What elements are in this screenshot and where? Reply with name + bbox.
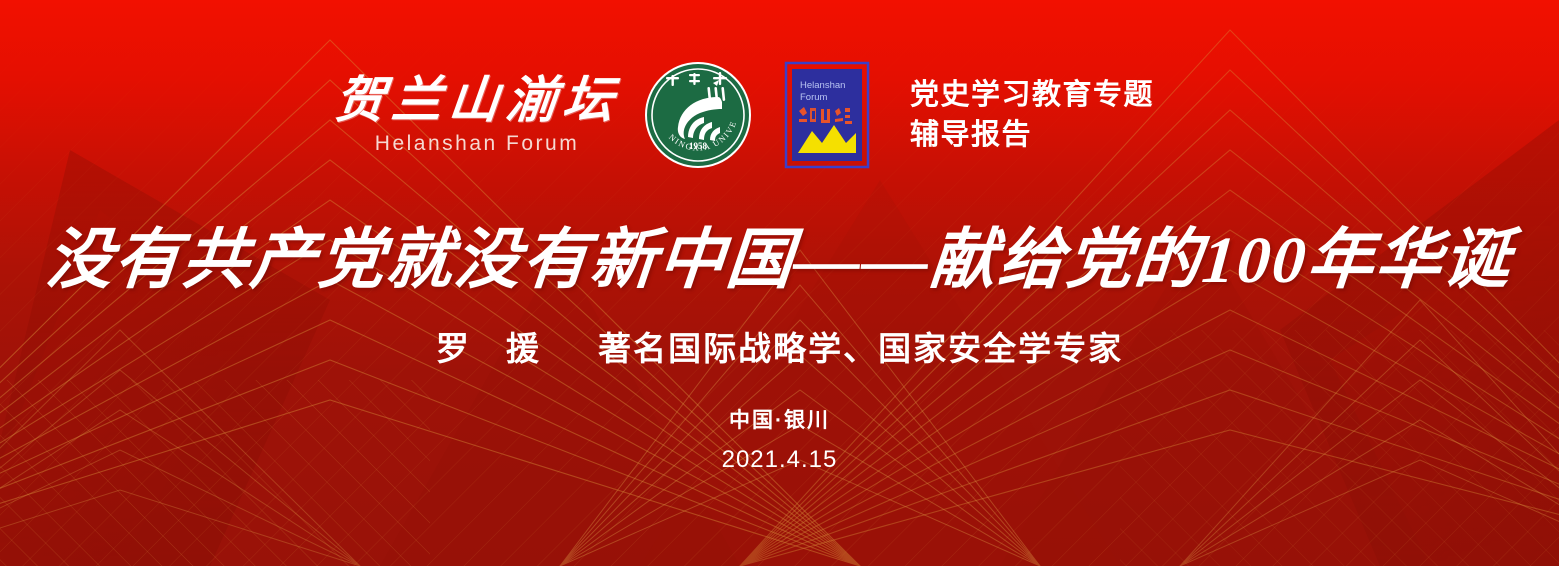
topic-heading: 党史学习教育专题 辅导报告 (910, 75, 1154, 155)
topic-line-2: 辅导报告 (910, 115, 1154, 155)
event-banner: 贺兰山湔坛 Helanshan Forum (0, 0, 1559, 566)
banner-footer: 中国·银川 2021.4.15 (0, 408, 1559, 474)
helanshan-forum-logo: 贺兰山湔坛 Helanshan Forum (332, 74, 622, 157)
svg-text:Forum: Forum (800, 92, 828, 103)
page-title: 没有共产党就没有新中国——献给党的100年华诞 (0, 206, 1559, 302)
ningxia-university-seal-icon: 1958 NINGXIA UNIVERSITY (644, 61, 752, 169)
speaker-title: 著名国际战略学、国家安全学专家 (598, 330, 1123, 367)
forum-logo-english-text: Helanshan Forum (375, 132, 579, 156)
forum-logo-chinese-text: 贺兰山湔坛 (332, 74, 623, 127)
speaker-name: 罗 援 (436, 330, 553, 367)
event-date: 2021.4.15 (0, 446, 1559, 474)
speaker-line: 罗 援 著名国际战略学、国家安全学专家 (0, 322, 1559, 370)
svg-text:Helanshan: Helanshan (800, 80, 845, 91)
helanshan-forum-book-cover-icon: Helanshan Forum (782, 61, 872, 169)
venue-text: 中国·银川 (0, 408, 1559, 433)
banner-header: 贺兰山湔坛 Helanshan Forum (332, 52, 1154, 178)
topic-line-1: 党史学习教育专题 (910, 75, 1154, 115)
